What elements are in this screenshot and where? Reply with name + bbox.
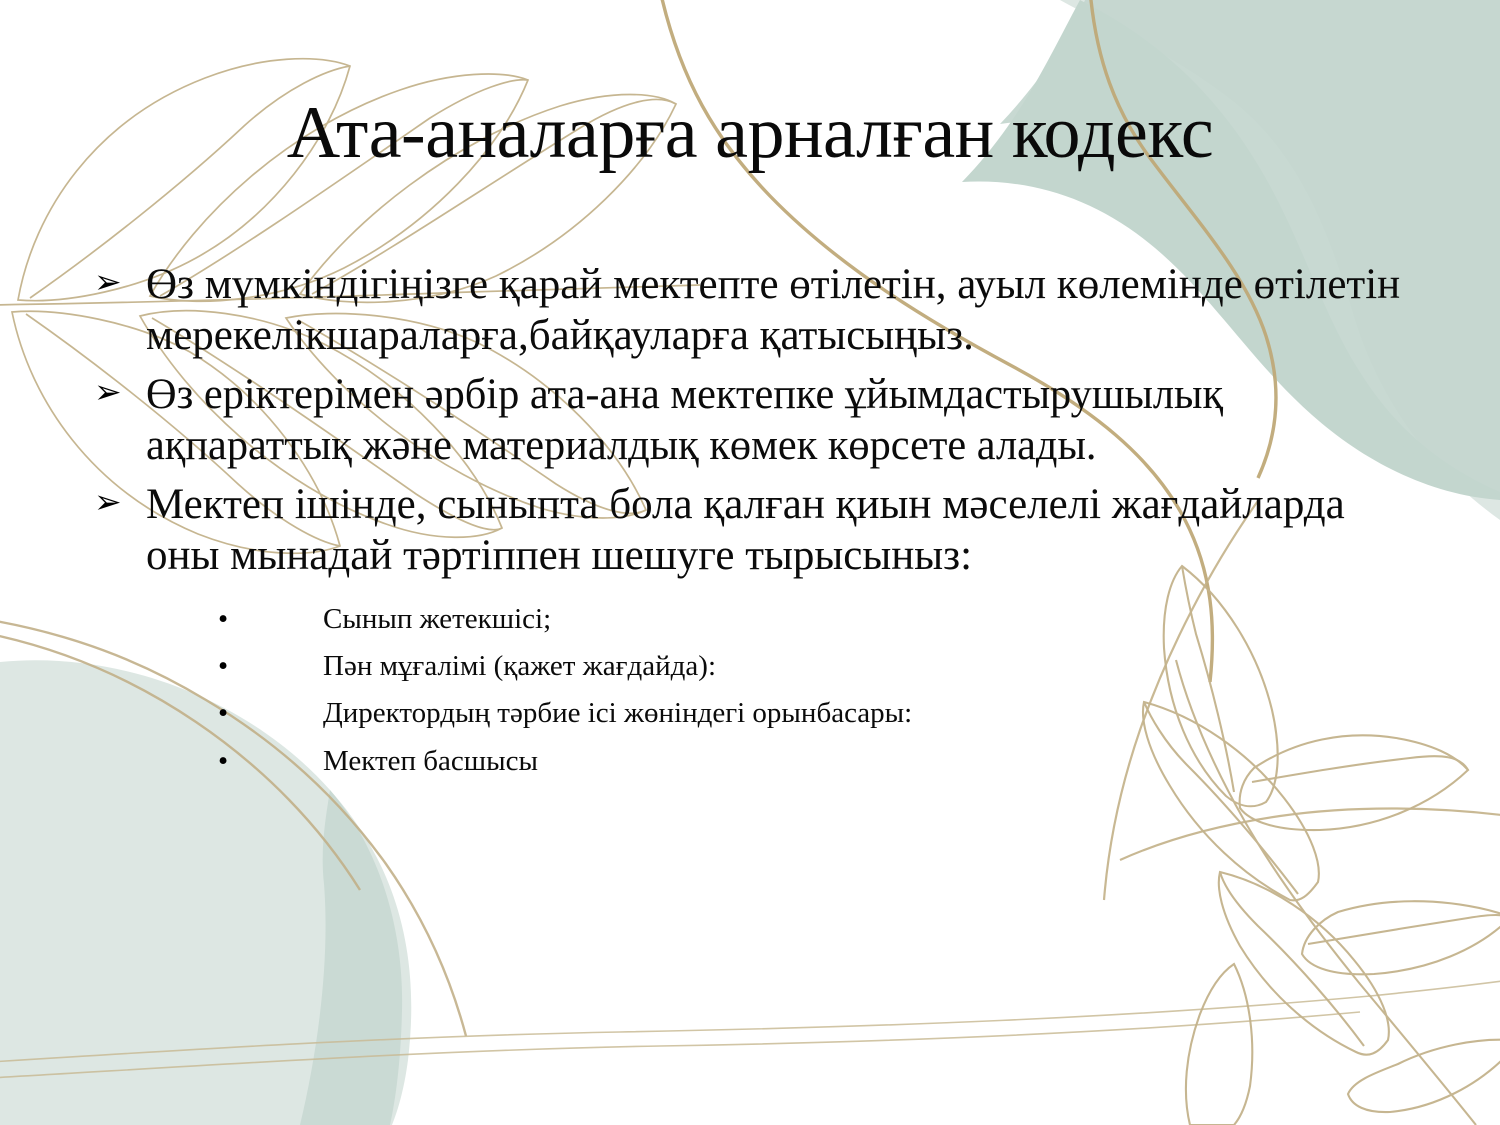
list-item-label: Мектеп ішінде, сыныпта бола қалған қиын …	[146, 480, 1416, 582]
list-item: ➢ Мектеп ішінде, сыныпта бола қалған қиы…	[86, 480, 1416, 582]
sub-bullet-list: • Сынып жетекшісі; • Пән мұғалімі (қажет…	[86, 596, 1416, 785]
list-item: ➢ Өз мүмкіндігіңізге қарай мектепте өтіл…	[86, 260, 1416, 362]
bullet-list: ➢ Өз мүмкіндігіңізге қарай мектепте өтіл…	[86, 260, 1416, 785]
sub-list-item: • Сынып жетекшісі;	[218, 596, 1416, 643]
arrowhead-bullet-icon: ➢	[94, 482, 122, 526]
slide-content: Ата-аналарға арналған кодекс ➢ Өз мүмкін…	[0, 0, 1500, 1125]
sub-list-item-label: Сынып жетекшісі;	[323, 603, 551, 635]
list-item-label: Өз еріктерімен әрбір ата-ана мектепке ұй…	[146, 370, 1397, 472]
round-bullet-icon: •	[218, 738, 228, 785]
sub-list-item-label: Мектеп басшысы	[323, 745, 538, 777]
sub-list-item-label: Пән мұғалімі (қажет жағдайда):	[323, 650, 716, 682]
round-bullet-icon: •	[218, 596, 228, 643]
list-item-label: Өз мүмкіндігіңізге қарай мектепте өтілет…	[146, 260, 1416, 362]
sub-list-item: • Директордың тәрбие ісі жөніндегі орынб…	[218, 690, 1416, 737]
sub-list-item: • Пән мұғалімі (қажет жағдайда):	[218, 643, 1416, 690]
sub-list-item: • Мектеп басшысы	[218, 738, 1416, 785]
round-bullet-icon: •	[218, 643, 228, 690]
page-title: Ата-аналарға арналған кодекс	[0, 96, 1500, 171]
arrowhead-bullet-icon: ➢	[94, 372, 122, 416]
presentation-slide: Ата-аналарға арналған кодекс ➢ Өз мүмкін…	[0, 0, 1500, 1125]
round-bullet-icon: •	[218, 690, 228, 737]
arrowhead-bullet-icon: ➢	[94, 262, 122, 306]
sub-list-item-label: Директордың тәрбие ісі жөніндегі орынбас…	[323, 697, 912, 729]
list-item: ➢ Өз еріктерімен әрбір ата-ана мектепке …	[86, 370, 1416, 472]
